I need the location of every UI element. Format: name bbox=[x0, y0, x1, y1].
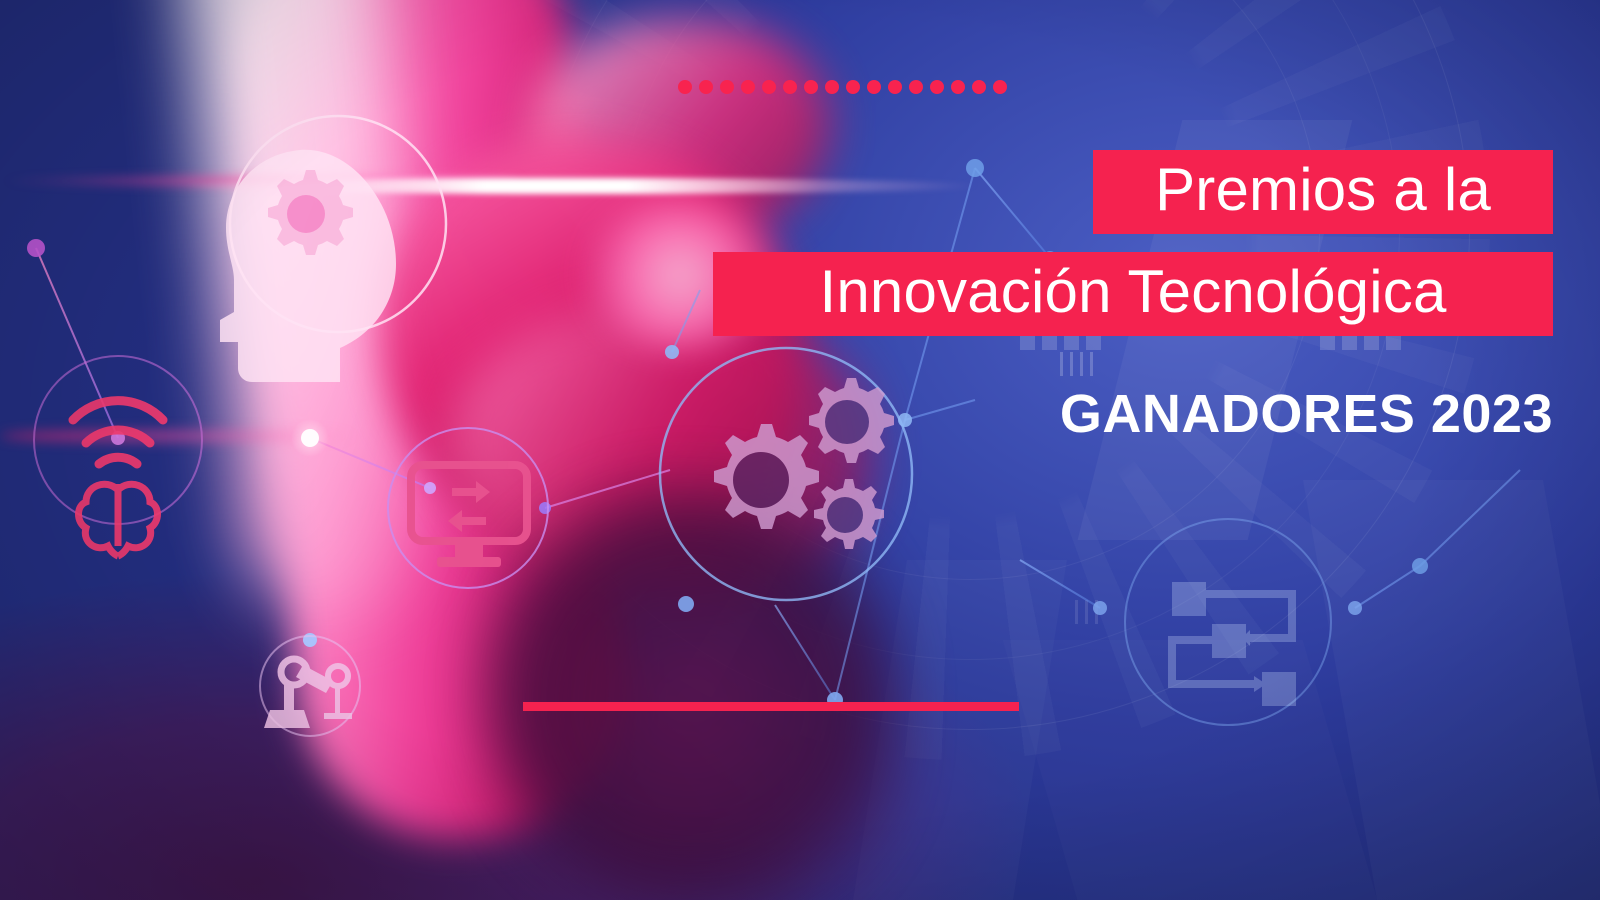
decor-dot bbox=[972, 80, 986, 94]
red-underline-rule bbox=[523, 702, 1019, 711]
decorative-dot-row bbox=[678, 80, 1007, 94]
decor-dot bbox=[909, 80, 923, 94]
decor-dot bbox=[699, 80, 713, 94]
decor-dot bbox=[867, 80, 881, 94]
decor-dot bbox=[930, 80, 944, 94]
title-line-1: Premios a la bbox=[1093, 150, 1553, 234]
subtitle-winners-year: GANADORES 2023 bbox=[948, 383, 1553, 445]
title-line-2: Innovación Tecnológica bbox=[713, 252, 1553, 336]
decor-dot bbox=[741, 80, 755, 94]
vignette-overlay bbox=[0, 0, 1600, 900]
decor-dot bbox=[825, 80, 839, 94]
decor-dot bbox=[846, 80, 860, 94]
decor-dot bbox=[993, 80, 1007, 94]
decor-dot bbox=[804, 80, 818, 94]
decor-dot bbox=[720, 80, 734, 94]
decor-dot bbox=[888, 80, 902, 94]
poster-canvas: Premios a la Innovación Tecnológica GANA… bbox=[0, 0, 1600, 900]
decor-dot bbox=[762, 80, 776, 94]
decor-dot bbox=[678, 80, 692, 94]
decor-dot bbox=[951, 80, 965, 94]
decor-dot bbox=[783, 80, 797, 94]
